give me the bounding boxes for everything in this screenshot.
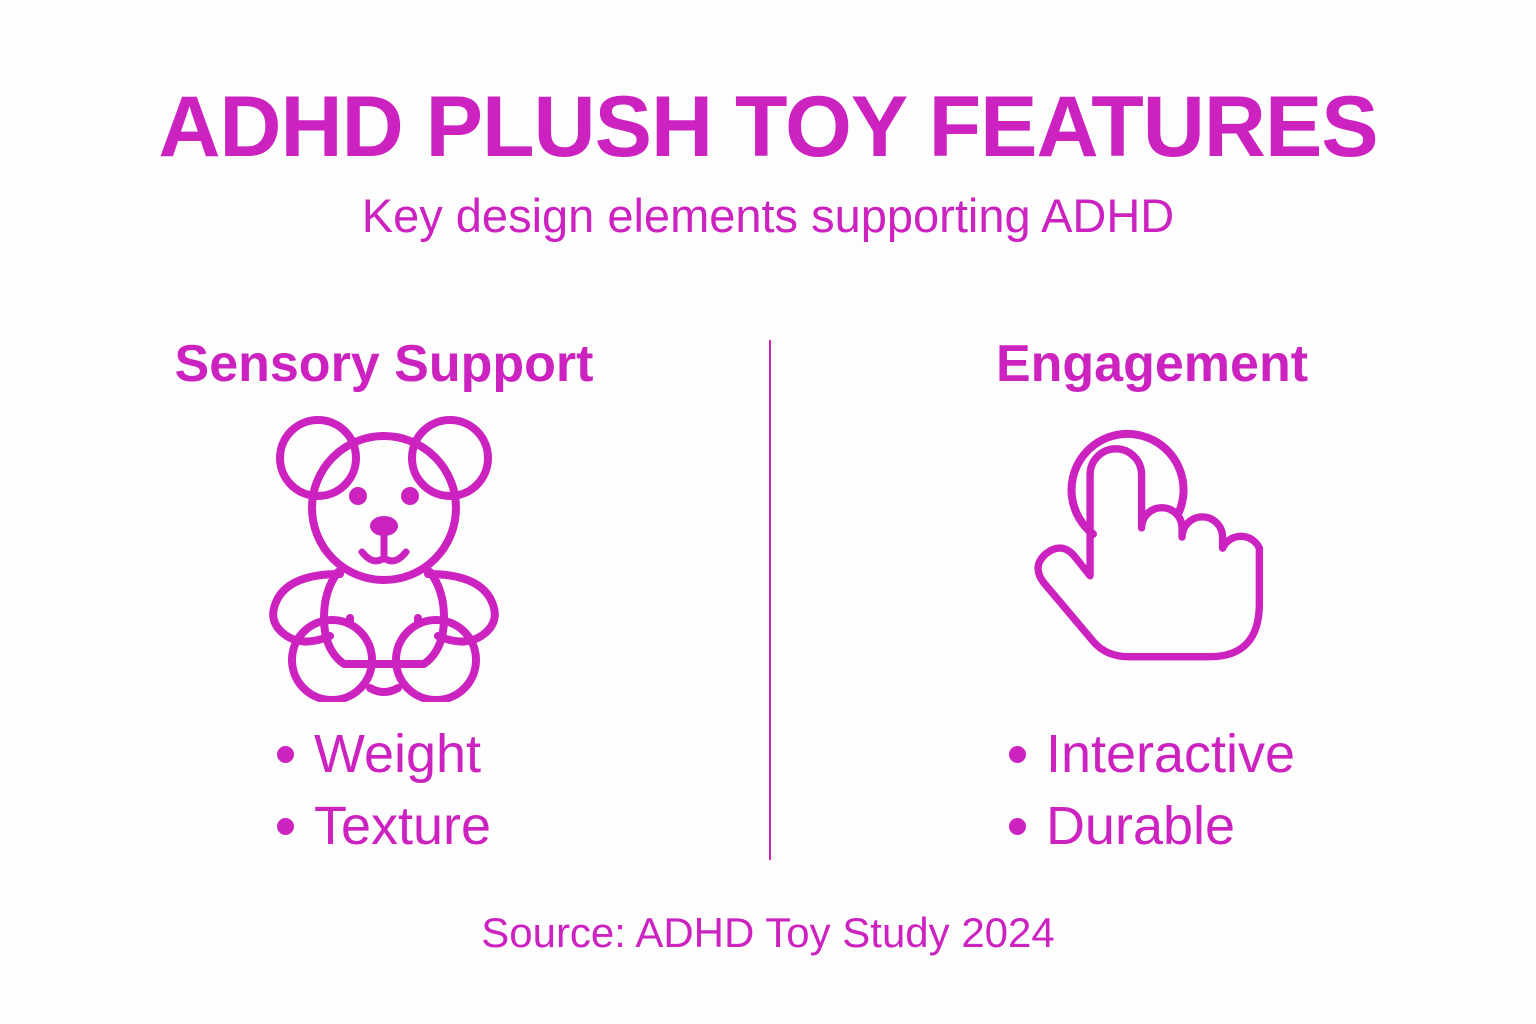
list-item: Durable: [1009, 790, 1235, 862]
bullet-dot-icon: [1009, 818, 1026, 835]
pointing-hand-tap-icon: [1027, 412, 1277, 702]
source-caption: Source: ADHD Toy Study 2024: [0, 912, 1536, 954]
bullet-dot-icon: [1009, 746, 1026, 763]
bullet-label: Weight: [314, 727, 481, 781]
list-item: Interactive: [1009, 718, 1295, 790]
bullet-label: Interactive: [1046, 727, 1295, 781]
bullet-dot-icon: [277, 746, 294, 763]
bullet-list-left: Weight Texture: [277, 718, 491, 862]
bullet-label: Texture: [314, 799, 491, 853]
bullet-list-right: Interactive Durable: [1009, 718, 1295, 862]
bullet-dot-icon: [277, 818, 294, 835]
column-sensory-support: Sensory Support: [0, 330, 768, 862]
column-engagement: Engagement Interactive Durable: [768, 330, 1536, 862]
column-heading-right: Engagement: [996, 338, 1308, 390]
column-heading-left: Sensory Support: [175, 338, 594, 390]
bullet-label: Durable: [1046, 799, 1235, 853]
teddy-bear-icon: [254, 412, 514, 702]
list-item: Weight: [277, 718, 481, 790]
columns-container: Sensory Support: [0, 330, 1536, 870]
infographic-canvas: ADHD PLUSH TOY FEATURES Key design eleme…: [0, 0, 1536, 1024]
page-subtitle: Key design elements supporting ADHD: [0, 192, 1536, 239]
page-title: ADHD PLUSH TOY FEATURES: [0, 84, 1536, 170]
list-item: Texture: [277, 790, 491, 862]
